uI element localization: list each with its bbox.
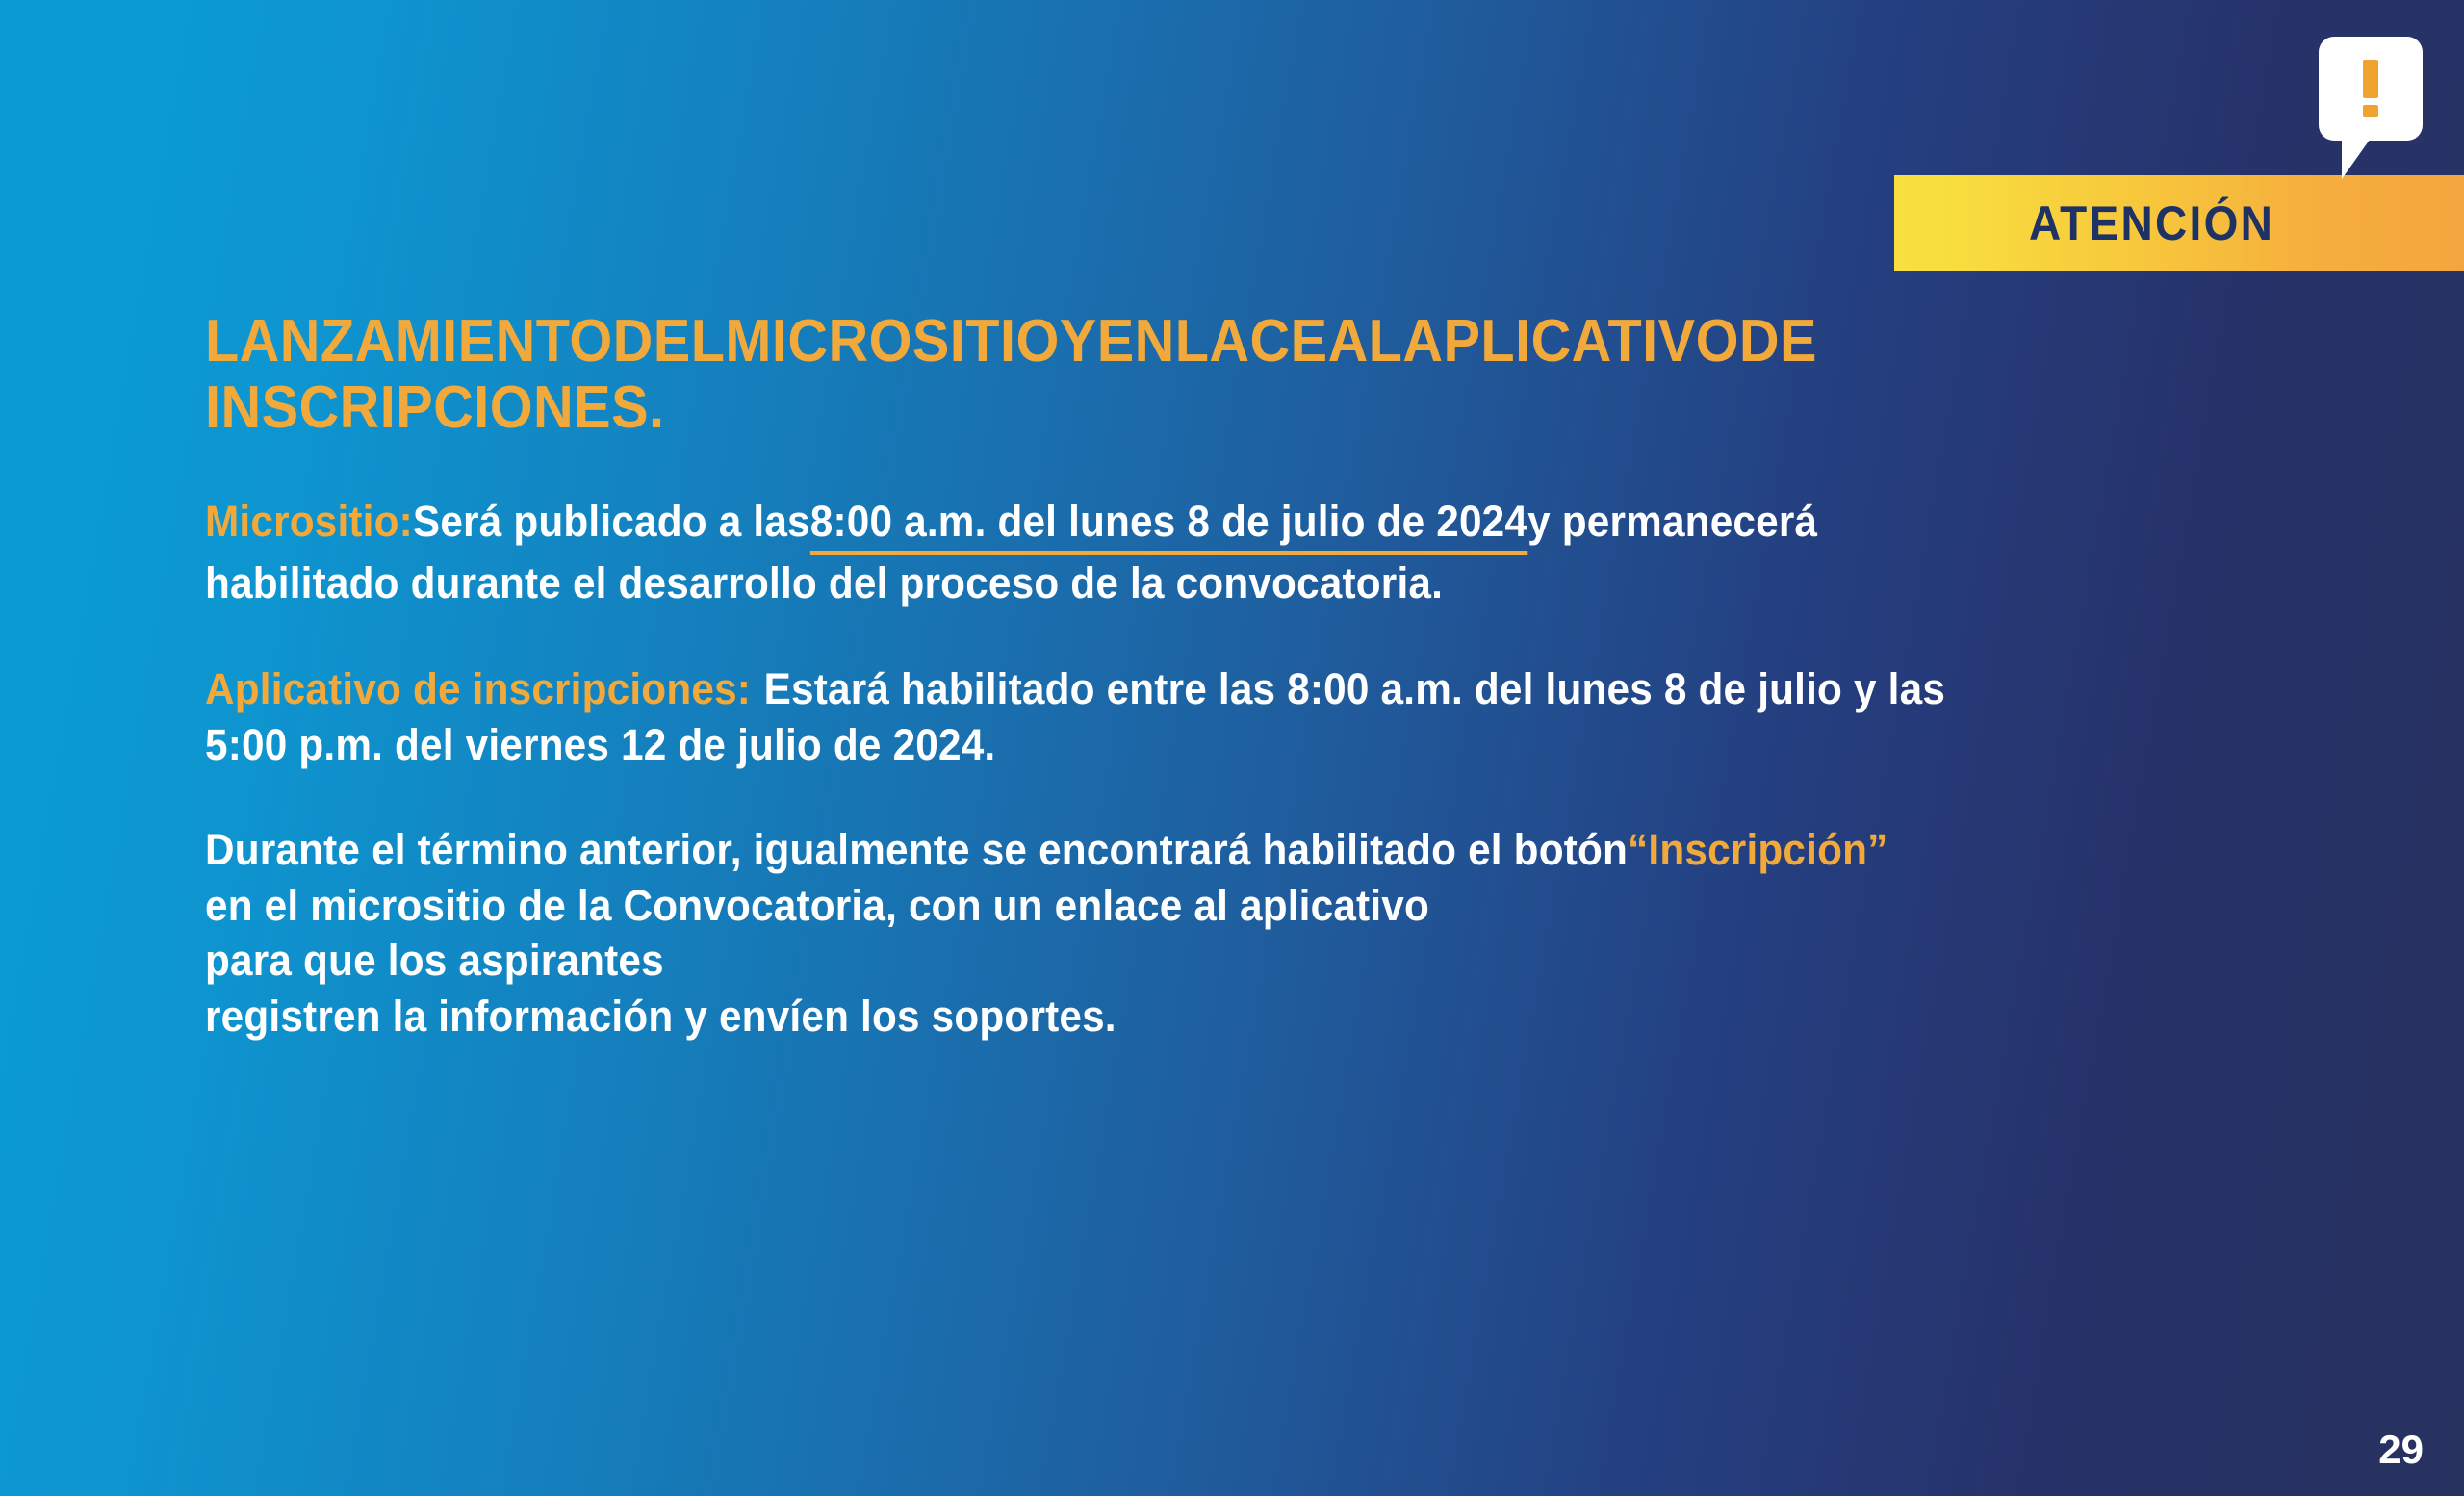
paragraph-durante-line-2: en el micrositio de la Convocatoria, con… [205,878,1490,989]
paragraph-durante: Durante el término anterior, igualmente … [205,822,1490,1044]
paragraph-durante-line-3: registren la información y envíen los so… [205,989,1490,1045]
paragraph-aplicativo-label: Aplicativo de inscripciones: [205,661,751,717]
paragraph-micrositio-underlined-date: 8:00 a.m. del lunes 8 de julio de 2024 [810,494,1527,556]
paragraph-micrositio-post: y permanecerá [1527,494,1817,556]
paragraph-aplicativo-line-2: 5:00 p.m. del viernes 12 de julio de 202… [205,717,1490,773]
paragraph-aplicativo-rest: Estará habilitado entre las 8:00 a.m. de… [764,661,1945,717]
paragraph-aplicativo-line-1: Aplicativo de inscripciones: Estará habi… [205,661,1490,717]
page-title-line-2: INSCRIPCIONES. [205,374,1485,441]
title-word-6: APLICATIVO [1402,308,1739,374]
paragraph-micrositio-line-1: Micrositio: Será publicado a las 8:00 a.… [205,494,1490,556]
slide-content: LANZAMIENTO DEL MICROSITIO Y ENLACE AL A… [205,308,2294,1045]
paragraph-durante-line-1: Durante el término anterior, igualmente … [205,822,1490,878]
title-word-4: ENLACE [1097,308,1328,374]
paragraph-micrositio-pre: Será publicado a las [413,494,810,556]
paragraph-micrositio: Micrositio: Será publicado a las 8:00 a.… [205,494,1490,611]
page-title-line-1: LANZAMIENTO DEL MICROSITIO Y ENLACE AL A… [205,308,1485,374]
page-number: 29 [2378,1427,2424,1473]
paragraph-micrositio-line-2: habilitado durante el desarrollo del pro… [205,555,1490,611]
title-word-1: DEL [613,308,726,374]
paragraph-durante-pre: Durante el término anterior, igualmente … [205,822,1628,878]
page-title: LANZAMIENTO DEL MICROSITIO Y ENLACE AL A… [205,308,1485,442]
exclamation-mark-icon [2319,37,2423,141]
exclamation-speech-bubble-icon [2319,37,2423,154]
attention-banner: ATENCIÓN [1894,175,2464,271]
paragraph-micrositio-label: Micrositio: [205,494,413,556]
paragraph-durante-inscripcion-highlight: “Inscripción” [1628,822,1887,878]
paragraph-aplicativo: Aplicativo de inscripciones: Estará habi… [205,661,1490,772]
attention-banner-label: ATENCIÓN [2029,199,2274,247]
title-word-7: DE [1739,308,1817,374]
title-word-5: AL [1328,308,1403,374]
title-word-2: MICROSITIO [725,308,1059,374]
slide-root: ATENCIÓN LANZAMIENTO DEL MICROSITIO Y EN… [0,0,2464,1496]
exclamation-stem [2363,60,2378,98]
title-word-3: Y [1060,308,1097,374]
title-word-0: LANZAMIENTO [205,308,613,374]
exclamation-dot [2363,105,2378,117]
